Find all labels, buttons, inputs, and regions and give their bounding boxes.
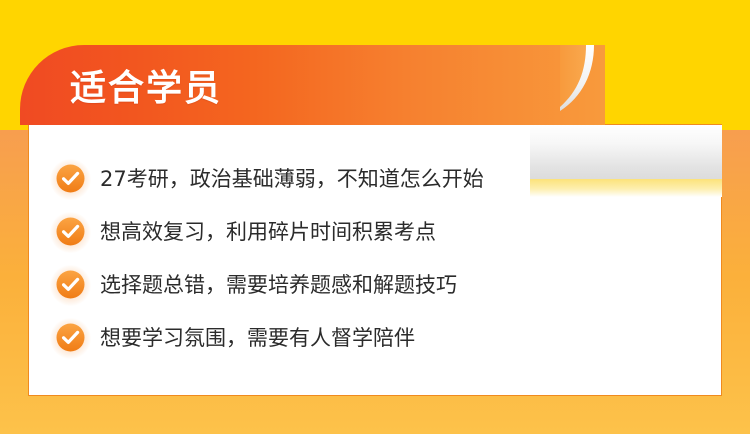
list-item: 想高效复习，利用碎片时间积累考点 bbox=[55, 205, 695, 258]
list-item-label: 27考研，政治基础薄弱，不知道怎么开始 bbox=[100, 164, 484, 194]
check-circle-icon bbox=[55, 163, 86, 194]
check-circle-icon bbox=[55, 216, 86, 247]
list-item-label: 选择题总错，需要培养题感和解题技巧 bbox=[100, 270, 457, 300]
list-item: 想要学习氛围，需要有人督学陪伴 bbox=[55, 311, 695, 364]
page-title: 适合学员 bbox=[70, 66, 222, 110]
check-circle-icon bbox=[55, 322, 86, 353]
ribbon-curl-icon bbox=[560, 45, 620, 125]
list-item: 选择题总错，需要培养题感和解题技巧 bbox=[55, 258, 695, 311]
benefits-list: 27考研，政治基础薄弱，不知道怎么开始 想高效复习，利用碎片时间积累考点 bbox=[55, 152, 695, 364]
check-circle-icon bbox=[55, 269, 86, 300]
list-item: 27考研，政治基础薄弱，不知道怎么开始 bbox=[55, 152, 695, 205]
list-item-label: 想高效复习，利用碎片时间积累考点 bbox=[100, 217, 436, 247]
promo-poster: 适合学员 27考研，政治基础薄弱，不知道怎么开始 bbox=[0, 0, 750, 434]
list-item-label: 想要学习氛围，需要有人督学陪伴 bbox=[100, 323, 415, 353]
